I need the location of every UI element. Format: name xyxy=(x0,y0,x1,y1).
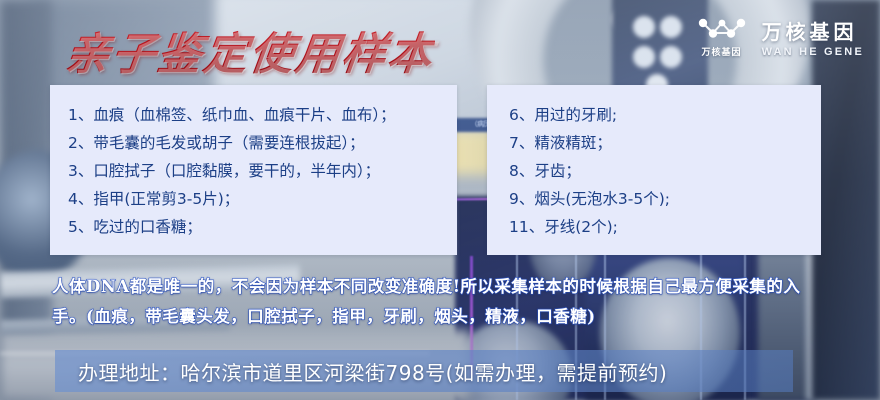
sample-list-panel-left: 1、血痕（血棉签、纸巾血、血痕干片、血布）； 2、带毛囊的毛发或胡子（需要连根拔… xyxy=(50,85,457,255)
sample-list-right: 6、用过的牙刷; 7、精液精斑； 8、牙齿； 9、烟头(无泡水3-5个); 11… xyxy=(487,101,821,241)
list-item: 9、烟头(无泡水3-5个); xyxy=(487,185,821,213)
logo-mark: 万核基因 xyxy=(696,17,748,58)
dna-molecule-icon xyxy=(696,17,748,43)
list-item: 2、带毛囊的毛发或胡子（需要连根拔起）； xyxy=(50,129,457,157)
logo-wordmark: 万核基因 WAN HE GENE xyxy=(762,16,864,58)
list-item: 4、指甲(正常剪3-5片)； xyxy=(50,185,457,213)
list-item: 8、牙齿； xyxy=(487,157,821,185)
list-item: 7、精液精斑； xyxy=(487,129,821,157)
list-item: 6、用过的牙刷; xyxy=(487,101,821,129)
brand-logo: 万核基因 万核基因 WAN HE GENE xyxy=(696,16,864,58)
logo-name-cn: 万核基因 xyxy=(762,16,858,45)
address-text: 办理地址：哈尔滨市道里区河梁街798号(如需办理，需提前预约) xyxy=(78,350,818,392)
sample-list-panel-right: 6、用过的牙刷; 7、精液精斑； 8、牙齿； 9、烟头(无泡水3-5个); 11… xyxy=(487,85,821,255)
list-item: 11、牙线(2个); xyxy=(487,213,821,241)
list-item: 1、血痕（血棉签、纸巾血、血痕干片、血布）； xyxy=(50,101,457,129)
list-item: 3、口腔拭子（口腔黏膜，要干的，半年内）； xyxy=(50,157,457,185)
list-item: 5、吃过的口香糖； xyxy=(50,213,457,241)
logo-mark-caption: 万核基因 xyxy=(702,45,742,58)
sample-list-left: 1、血痕（血棉签、纸巾血、血痕干片、血布）； 2、带毛囊的毛发或胡子（需要连根拔… xyxy=(50,101,457,241)
logo-name-en: WAN HE GENE xyxy=(762,46,864,58)
page-title: 亲子鉴定使用样本 xyxy=(62,18,438,82)
explanatory-paragraph: 人体DNA都是唯一的，不会因为样本不同改变准确度!所以采集样本的时候根据自己最方… xyxy=(52,272,832,332)
parentage-test-sample-banner: （病历日） 成人 亲子鉴定使用样本 xyxy=(0,0,880,400)
